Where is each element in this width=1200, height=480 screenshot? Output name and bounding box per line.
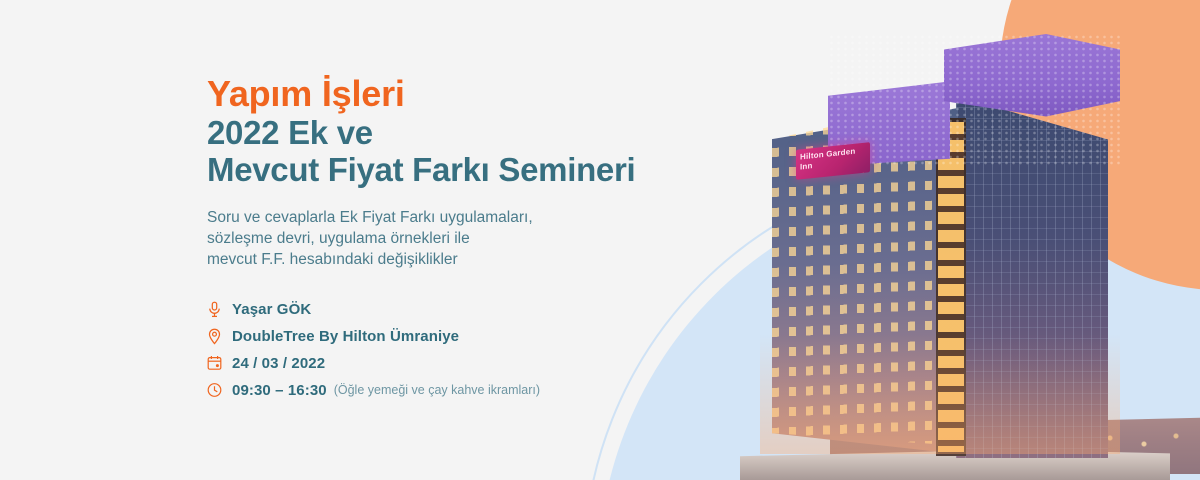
- speaker-name: Yaşar GÖK: [232, 301, 311, 318]
- subtitle-line-3: mevcut F.F. hesabındaki değişiklikler: [207, 251, 458, 268]
- building-illustration: Hilton Garden Inn: [700, 0, 1200, 480]
- detail-row-time: 09:30 – 16:30 (Öğle yemeği ve çay kahve …: [207, 378, 667, 402]
- event-details-list: Yaşar GÖK DoubleTree By Hilton Ümraniye: [207, 297, 667, 402]
- subtitle-line-1: Soru ve cevaplarla Ek Fiyat Farkı uygula…: [207, 209, 533, 226]
- seminar-banner: Hilton Garden Inn Yapım İşleri 2022 Ek v…: [0, 0, 1200, 480]
- subtitle-line-2: sözleşme devri, uygulama örnekleri ile: [207, 230, 470, 247]
- hotel-building-photo: Hilton Garden Inn: [700, 0, 1200, 480]
- hotel-sign-text: Hilton Garden Inn: [800, 146, 866, 177]
- banner-content: Yapım İşleri 2022 Ek ve Mevcut Fiyat Far…: [207, 74, 667, 405]
- event-time: 09:30 – 16:30: [232, 382, 327, 399]
- detail-row-date: 24 / 03 / 2022: [207, 351, 667, 375]
- page-title-line3: Mevcut Fiyat Farkı Semineri: [207, 151, 667, 188]
- page-subtitle: Soru ve cevaplarla Ek Fiyat Farkı uygula…: [207, 207, 667, 270]
- map-pin-icon: [207, 328, 232, 345]
- event-date: 24 / 03 / 2022: [232, 355, 325, 372]
- crown-perforation-pattern: [828, 34, 1120, 166]
- microphone-icon: [207, 301, 232, 318]
- detail-row-venue: DoubleTree By Hilton Ümraniye: [207, 324, 667, 348]
- building-core-lights: [938, 122, 964, 452]
- clock-icon: [207, 382, 232, 398]
- page-title-highlight: Yapım İşleri: [207, 74, 667, 114]
- venue-name: DoubleTree By Hilton Ümraniye: [232, 328, 459, 345]
- page-title-line2: 2022 Ek ve: [207, 114, 667, 151]
- calendar-icon: [207, 355, 232, 371]
- detail-row-speaker: Yaşar GÖK: [207, 297, 667, 321]
- event-time-note: (Öğle yemeği ve çay kahve ikramları): [334, 383, 540, 397]
